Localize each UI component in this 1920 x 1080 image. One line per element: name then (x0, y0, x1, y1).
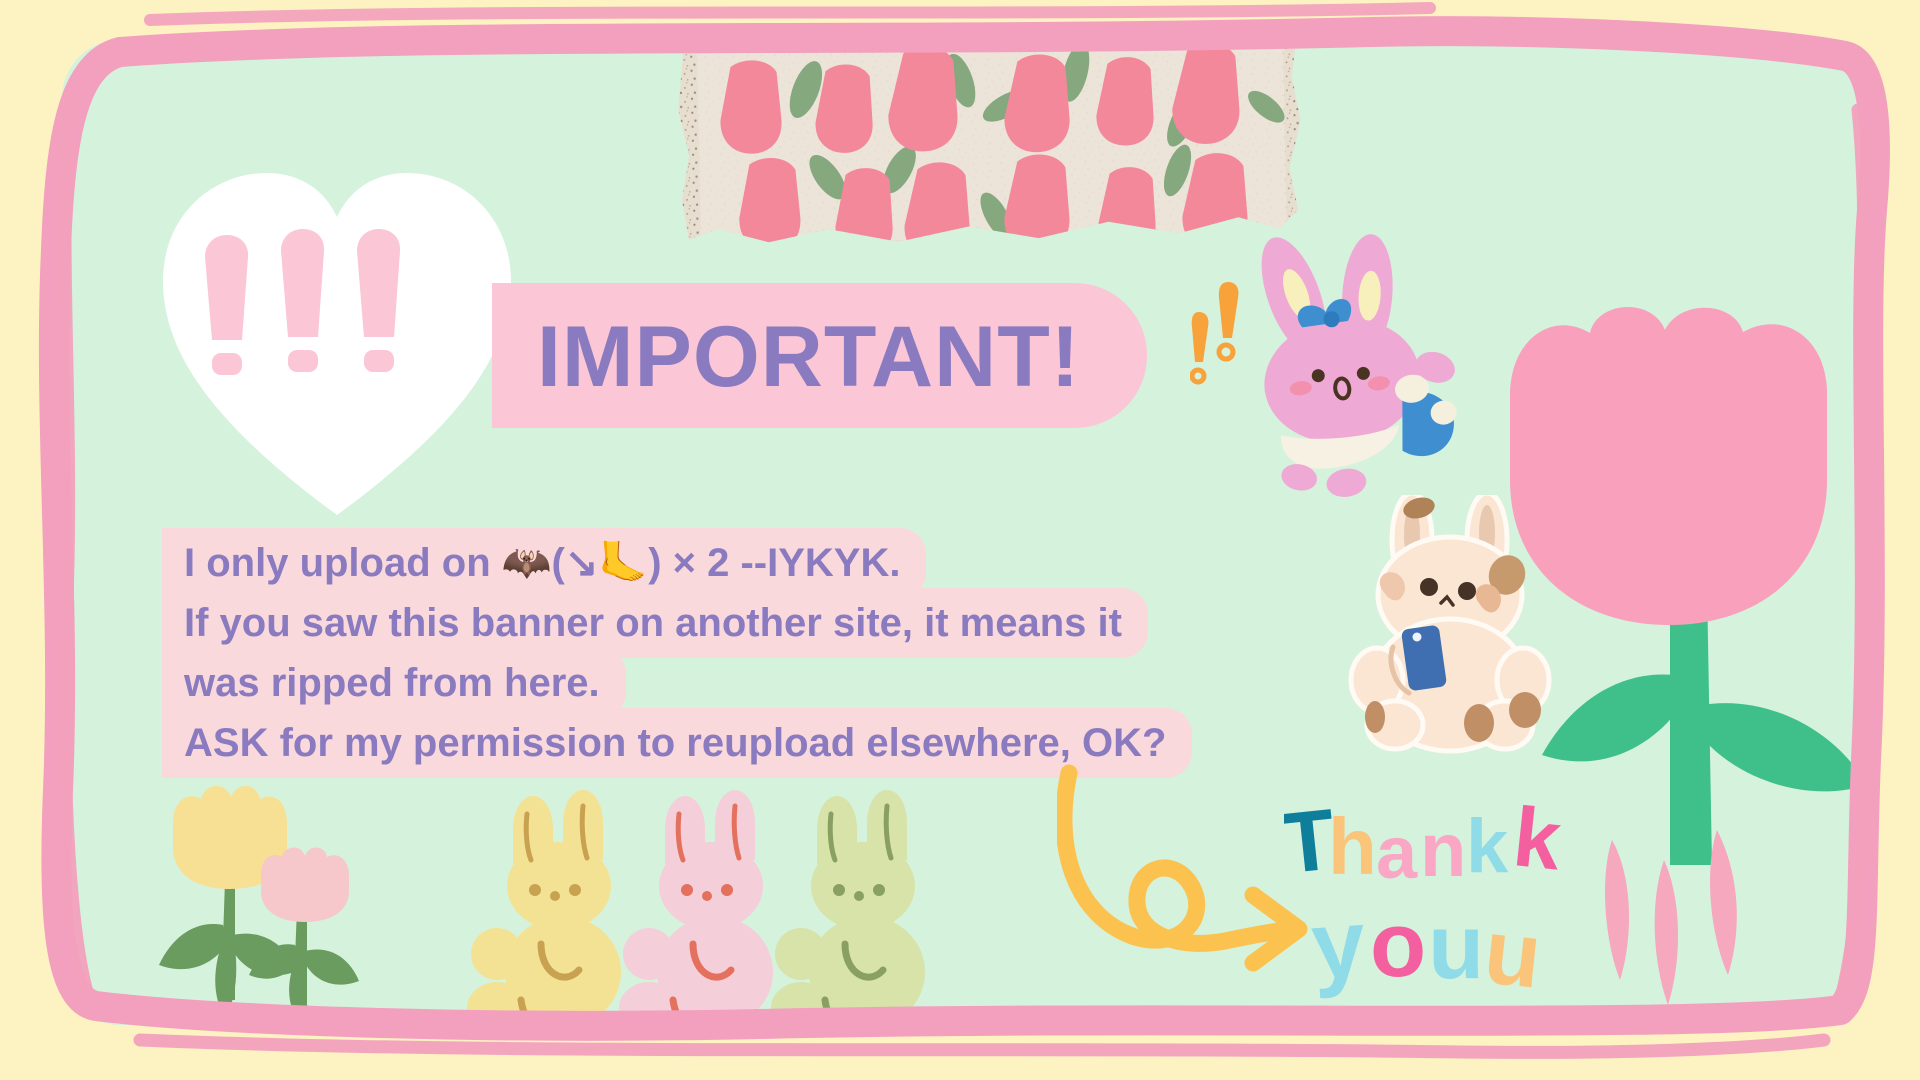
tulip-washi-tape (675, 40, 1309, 262)
message-row: I only upload on 🦇(↘🦶) × 2 --IYKYK. (162, 528, 1252, 588)
white-heart-with-exclamations (157, 165, 517, 520)
thankyou-letter: u (1479, 900, 1546, 1000)
green-gummy-bunny (771, 790, 925, 1025)
message-block: I only upload on 🦇(↘🦶) × 2 --IYKYK. If y… (162, 528, 1252, 768)
orange-exclamation-marks (1190, 280, 1260, 395)
thankyou-letter: k (1509, 800, 1566, 888)
falling-pink-petals (1582, 830, 1782, 1025)
message-line-4: ASK for my permission to reupload elsewh… (162, 708, 1192, 778)
thankyou-letter: y (1308, 890, 1369, 1000)
thankyou-letter: n (1420, 808, 1466, 893)
thankyou-letter: o (1370, 894, 1426, 996)
banner-canvas: IMPORTANT! I only upload on 🦇(↘🦶) × 2 --… (0, 0, 1920, 1080)
thankyou-letter: h (1328, 802, 1377, 891)
message-row: If you saw this banner on another site, … (162, 588, 1252, 648)
thankyou-letter: a (1376, 811, 1418, 894)
thankyou-letter: u (1428, 896, 1484, 998)
small-tulips-group (157, 785, 397, 1025)
page-title: IMPORTANT! (537, 298, 1177, 416)
thank-you-lettering: T h a n k k y o u u (1284, 800, 1584, 1000)
cream-bunny-with-phone (1347, 495, 1562, 755)
yellow-gummy-bunny (467, 790, 621, 1025)
pink-tulip (249, 847, 359, 1019)
mint-card: IMPORTANT! I only upload on 🦇(↘🦶) × 2 --… (62, 40, 1862, 1025)
thankyou-letter: k (1466, 804, 1509, 889)
pink-gummy-bunny (619, 790, 773, 1025)
gummy-bunnies-group (467, 780, 1007, 1025)
